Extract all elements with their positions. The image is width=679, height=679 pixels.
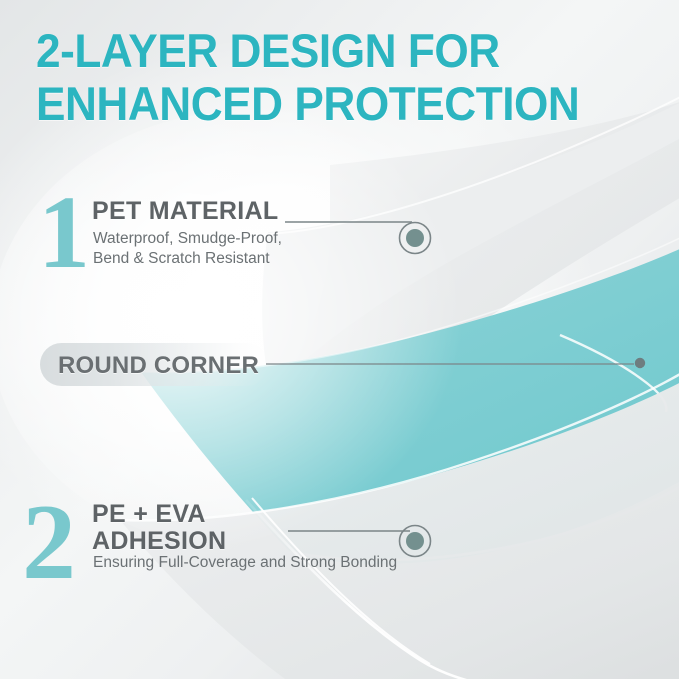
feature-heading-1-line-1: PET MATERIAL <box>92 197 278 225</box>
feature-heading-2-line-2: ADHESION <box>92 528 226 555</box>
infographic-poster: 2-LAYER DESIGN FOR ENHANCED PROTECTION 1… <box>0 0 679 679</box>
title-line-1: 2-LAYER DESIGN FOR <box>36 24 619 77</box>
feature-heading-2-line-1: PE + EVA <box>92 501 226 528</box>
feature-description-1: Waterproof, Smudge-Proof, Bend & Scratch… <box>93 229 282 269</box>
page-title: 2-LAYER DESIGN FOR ENHANCED PROTECTION <box>36 24 619 130</box>
feature-heading-1: PET MATERIAL <box>92 198 278 225</box>
feature-description-2: Ensuring Full-Coverage and Strong Bondin… <box>93 553 397 573</box>
feature-description-1-line-2: Bend & Scratch Resistant <box>93 249 282 269</box>
feature-heading-2: PE + EVA ADHESION <box>92 501 226 555</box>
feature-number-1: 1 <box>38 181 88 285</box>
feature-description-1-line-1: Waterproof, Smudge-Proof, <box>93 229 282 249</box>
title-line-2: ENHANCED PROTECTION <box>36 77 619 130</box>
round-corner-label: ROUND CORNER <box>58 352 259 380</box>
feature-number-2: 2 <box>22 489 74 597</box>
feature-description-2-line-1: Ensuring Full-Coverage and Strong Bondin… <box>93 553 397 573</box>
